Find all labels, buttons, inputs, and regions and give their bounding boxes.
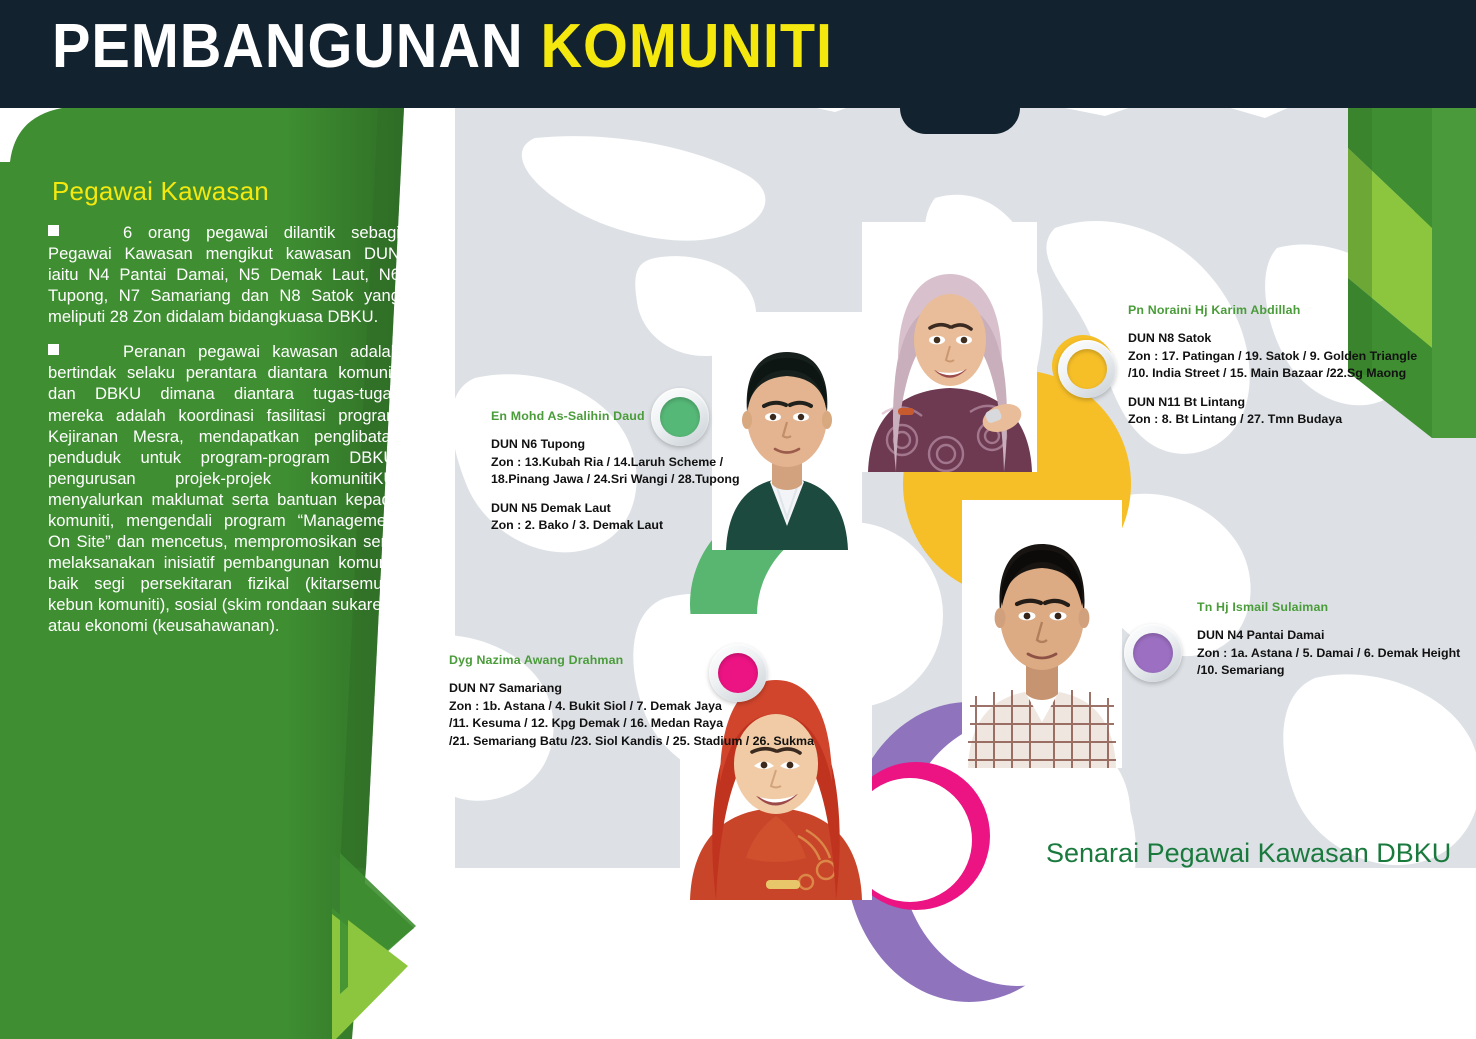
officer-zon-line: Zon : 1b. Astana / 4. Bukit Siol / 7. De… (449, 698, 814, 716)
officer-dun: DUN N5 Demak Laut (491, 500, 740, 518)
officer-block-mohd-as-salihin-daud: En Mohd As-Salihin Daud DUN N6 Tupong Zo… (491, 409, 740, 535)
marker-dot-purple[interactable] (1124, 624, 1182, 682)
officer-dun: DUN N11 Bt Lintang (1128, 394, 1417, 412)
officer-name: En Mohd As-Salihin Daud (491, 409, 740, 423)
officer-zon-line: Zon : 2. Bako / 3. Demak Laut (491, 517, 740, 535)
officer-block-dyg-nazima-awang-drahman: Dyg Nazima Awang Drahman DUN N7 Samarian… (449, 653, 814, 750)
officer-zon-line: /10. India Street / 15. Main Bazaar /22.… (1128, 365, 1417, 383)
officer-block-noraini-hj-karim-abdillah: Pn Noraini Hj Karim Abdillah DUN N8 Sato… (1128, 303, 1417, 429)
officer-dun: DUN N8 Satok (1128, 330, 1417, 348)
page-title-part-2: KOMUNITI (540, 12, 833, 81)
officer-name: Dyg Nazima Awang Drahman (449, 653, 814, 667)
officer-dun: DUN N4 Pantai Damai (1197, 627, 1460, 645)
officer-zon-line: Zon : 13.Kubah Ria / 14.Laruh Scheme / (491, 454, 740, 472)
page-title: PEMBANGUNAN KOMUNITI (52, 16, 833, 78)
officer-zon-line: /21. Semariang Batu /23. Siol Kandis / 2… (449, 733, 814, 751)
panel-paragraph-2-text: Peranan pegawai kawasan adalah bertindak… (48, 342, 400, 635)
officer-zon-line: 18.Pinang Jawa / 24.Sri Wangi / 28.Tupon… (491, 471, 740, 489)
officer-zon-line: Zon : 8. Bt Lintang / 27. Tmn Budaya (1128, 411, 1417, 429)
page-title-part-1: PEMBANGUNAN (52, 12, 540, 81)
spacer (491, 489, 740, 500)
officer-dun: DUN N7 Samariang (449, 680, 814, 698)
officer-zon-line: Zon : 1a. Astana / 5. Damai / 6. Demak H… (1197, 645, 1460, 663)
panel-heading: Pegawai Kawasan (52, 176, 269, 207)
panel-paragraph-2: Peranan pegawai kawasan adalah bertindak… (48, 341, 400, 636)
officer-name: Pn Noraini Hj Karim Abdillah (1128, 303, 1417, 317)
panel-body-text: 6 orang pegawai dilantik sebagi Pegawai … (48, 222, 400, 636)
header-notch-tab (900, 104, 1020, 134)
officer-block-tn-hj-ismail-sulaiman: Tn Hj Ismail Sulaiman DUN N4 Pantai Dama… (1197, 600, 1460, 680)
footer-title: Senarai Pegawai Kawasan DBKU (1046, 838, 1451, 869)
marker-dot-purple-core (1133, 633, 1173, 673)
square-bullet-icon (48, 225, 59, 236)
officer-name: Tn Hj Ismail Sulaiman (1197, 600, 1460, 614)
poster-canvas: En Mohd As-Salihin Daud DUN N6 Tupong Zo… (0, 0, 1476, 1039)
photo-officer-tn-hj-ismail-sulaiman (962, 500, 1122, 768)
officer-zon-line: /10. Semariang (1197, 662, 1460, 680)
photo-officer-noraini-hj-karim-abdillah (862, 222, 1037, 472)
officer-dun: DUN N6 Tupong (491, 436, 740, 454)
panel-paragraph-1: 6 orang pegawai dilantik sebagi Pegawai … (48, 222, 400, 327)
square-bullet-icon (48, 344, 59, 355)
officer-zon-line: /11. Kesuma / 12. Kpg Demak / 16. Medan … (449, 715, 814, 733)
officer-zon-line: Zon : 17. Patingan / 19. Satok / 9. Gold… (1128, 348, 1417, 366)
marker-dot-orange[interactable] (1058, 340, 1116, 398)
marker-dot-orange-core (1067, 349, 1107, 389)
panel-paragraph-1-text: 6 orang pegawai dilantik sebagi Pegawai … (48, 223, 400, 326)
spacer (1128, 383, 1417, 394)
